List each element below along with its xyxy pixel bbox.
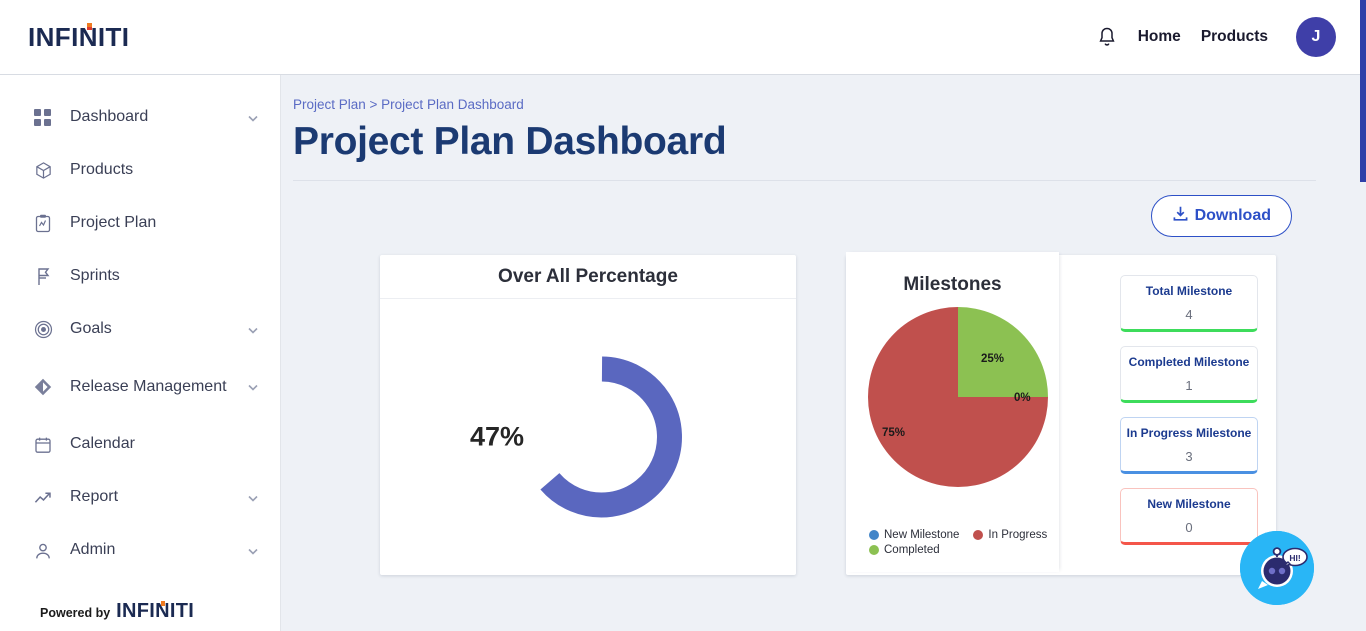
sidebar-item-admin[interactable]: Admin [0, 524, 280, 577]
legend-item-new-milestone[interactable]: New Milestone [869, 529, 959, 541]
pie-label-completed: 25% [981, 353, 1004, 365]
chevron-down-icon[interactable] [246, 380, 260, 394]
powered-by-brand-text: INFINITI [116, 600, 194, 622]
milestone-stats: Total Milestone 4 Completed Milestone 1 … [1120, 275, 1258, 545]
gauge-donut: 47% [512, 342, 692, 532]
sidebar: Dashboard Products Project Plan [0, 75, 281, 631]
target-icon [32, 319, 54, 341]
milestones-chart-panel: Milestones 25% 0% 75% [846, 252, 1059, 572]
pie-legend: New Milestone In Progress Completed [869, 529, 1074, 556]
sidebar-item-dashboard[interactable]: Dashboard [0, 91, 280, 144]
milestones-card: Total Milestone 4 Completed Milestone 1 … [846, 255, 1276, 575]
sidebar-item-products[interactable]: Products [0, 144, 280, 197]
box-icon [32, 160, 54, 182]
stat-total-milestone[interactable]: Total Milestone 4 [1120, 275, 1258, 332]
sidebar-item-project-plan[interactable]: Project Plan [0, 197, 280, 250]
pie-svg: 25% 0% 75% [846, 302, 1059, 492]
legend-item-completed[interactable]: Completed [869, 544, 940, 556]
overall-percentage-card: Over All Percentage 47% [380, 255, 796, 575]
trending-up-icon [32, 487, 54, 509]
stat-new-milestone[interactable]: New Milestone 0 [1120, 488, 1258, 545]
nav-link-products[interactable]: Products [1201, 28, 1268, 46]
logo-accent-dot-icon [161, 601, 165, 606]
main-content: Project Plan > Project Plan Dashboard Pr… [281, 75, 1360, 631]
sidebar-item-label: Products [70, 161, 260, 179]
brand-logo-text: INFINITI [28, 22, 129, 53]
chatbot-bubble-text: HI! [1289, 553, 1301, 563]
chatbot-robot-icon: HI! [1240, 531, 1314, 605]
sidebar-item-label: Calendar [70, 435, 260, 453]
chevron-down-icon[interactable] [246, 111, 260, 125]
user-icon [32, 540, 54, 562]
stat-label: Total Milestone [1125, 284, 1253, 298]
grid-icon [32, 107, 54, 129]
chatbot-launcher[interactable]: HI! [1240, 531, 1314, 605]
sidebar-item-label: Dashboard [70, 108, 246, 126]
stat-value: 0 [1125, 520, 1253, 535]
page-title: Project Plan Dashboard [293, 120, 1330, 164]
stat-in-progress-milestone[interactable]: In Progress Milestone 3 [1120, 417, 1258, 474]
avatar[interactable]: J [1296, 17, 1336, 57]
sidebar-item-label: Admin [70, 541, 246, 559]
clipboard-chart-icon [32, 213, 54, 235]
download-button-label: Download [1195, 207, 1271, 225]
sidebar-item-sprints[interactable]: Sprints [0, 250, 280, 303]
sidebar-item-label: Report [70, 488, 246, 506]
chevron-down-icon[interactable] [246, 491, 260, 505]
chevron-down-icon[interactable] [246, 544, 260, 558]
stat-value: 3 [1125, 449, 1253, 464]
overall-percentage-chart: 47% [380, 299, 796, 575]
sidebar-item-report[interactable]: Report [0, 471, 280, 524]
sidebar-item-release-management[interactable]: Release Management [0, 356, 280, 418]
sidebar-item-calendar[interactable]: Calendar [0, 418, 280, 471]
legend-label: Completed [884, 544, 940, 556]
stat-value: 4 [1125, 307, 1253, 322]
dashboard-cards: Over All Percentage 47% Total Milesto [293, 255, 1330, 575]
powered-by-label: Powered by [40, 606, 110, 620]
download-button[interactable]: Download [1151, 195, 1292, 237]
stat-completed-milestone[interactable]: Completed Milestone 1 [1120, 346, 1258, 403]
sidebar-item-label: Sprints [70, 267, 260, 285]
stat-value: 1 [1125, 378, 1253, 393]
breadcrumb[interactable]: Project Plan > Project Plan Dashboard [293, 97, 1330, 112]
sidebar-item-label: Goals [70, 320, 246, 338]
toolbar: Download [293, 181, 1330, 237]
milestones-pie-chart: 25% 0% 75% [846, 302, 1059, 492]
top-nav: Home Products J [1096, 17, 1336, 57]
calendar-icon [32, 434, 54, 456]
page-scrollbar-thumb[interactable] [1360, 0, 1366, 182]
overall-percentage-card-title: Over All Percentage [380, 255, 796, 299]
legend-swatch-icon [869, 530, 879, 540]
sidebar-footer: Powered by INFINITI [40, 600, 194, 623]
legend-swatch-icon [869, 545, 879, 555]
download-icon [1172, 205, 1189, 227]
bell-icon[interactable] [1096, 25, 1118, 49]
sidebar-item-label: Project Plan [70, 214, 260, 232]
legend-swatch-icon [973, 530, 983, 540]
gauge-arc [512, 342, 692, 532]
gauge-value-label: 47% [470, 422, 524, 453]
stat-label: New Milestone [1125, 497, 1253, 511]
diamond-icon [32, 376, 54, 398]
sidebar-item-goals[interactable]: Goals [0, 303, 280, 356]
app-root: INFINITI Home Products J [0, 0, 1366, 631]
milestones-card-title: Milestones [846, 252, 1059, 296]
pie-label-in-progress: 75% [882, 427, 905, 439]
flag-icon [32, 266, 54, 288]
legend-label: In Progress [988, 529, 1047, 541]
sidebar-item-label: Release Management [70, 378, 246, 396]
brand-logo[interactable]: INFINITI [28, 22, 129, 53]
chevron-down-icon[interactable] [246, 323, 260, 337]
stat-label: Completed Milestone [1125, 355, 1253, 369]
powered-by-brand: INFINITI [116, 600, 194, 623]
logo-accent-dot2-icon [87, 27, 92, 30]
stat-label: In Progress Milestone [1125, 426, 1253, 440]
legend-item-in-progress[interactable]: In Progress [973, 529, 1047, 541]
top-header: INFINITI Home Products J [0, 0, 1360, 75]
pie-label-new: 0% [1014, 392, 1031, 404]
nav-link-home[interactable]: Home [1138, 28, 1181, 46]
legend-label: New Milestone [884, 529, 959, 541]
